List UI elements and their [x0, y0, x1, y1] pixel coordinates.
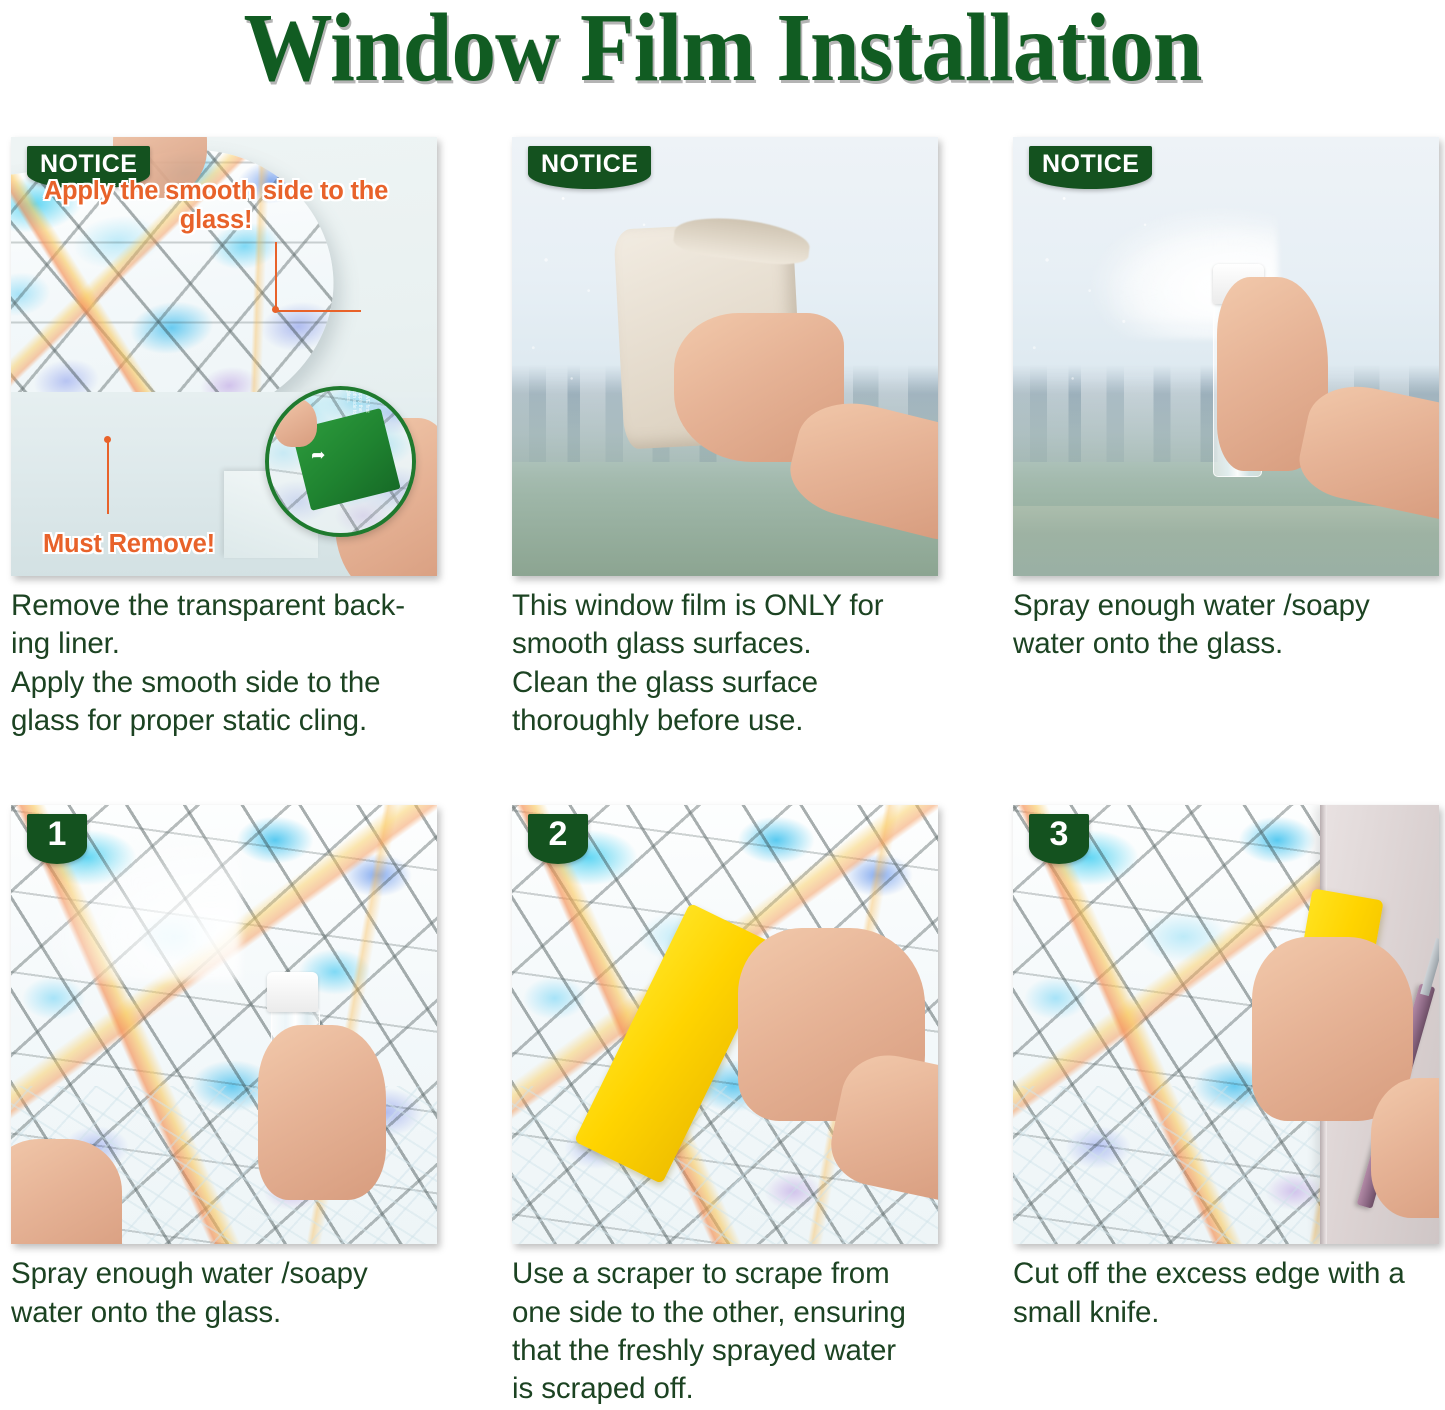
- magnifier-inset: ➦ Please REMOVE first and apply the smoo…: [265, 386, 416, 537]
- row-notices: ➦ Please REMOVE first and apply the smoo…: [0, 137, 1445, 740]
- spray-nozzle: [267, 972, 318, 1012]
- caption-step-1: Spray enough water /soapy water onto the…: [11, 1255, 437, 1332]
- badge-step-2: 2: [528, 814, 588, 864]
- badge-notice: NOTICE: [528, 146, 651, 189]
- row-steps: 1 Spray enough water /soapy water onto t…: [0, 805, 1445, 1408]
- callout-apply-smooth-side: Apply the smooth side to the glass!: [11, 177, 421, 235]
- badge-step-3: 3: [1029, 814, 1089, 864]
- panel-spray-water: NOTICE Spray enough water /soapy water o…: [1013, 137, 1439, 740]
- callout-leader-elbow: [275, 242, 361, 312]
- callout-leader-vertical: [107, 440, 109, 514]
- panel-clean-glass: NOTICE This window film is ONLY for smoo…: [512, 137, 938, 740]
- page-title: Window Film Installation: [58, 0, 1387, 103]
- pull-tab-text: Please REMOVE first and apply the smooth…: [345, 386, 376, 417]
- panel-step-2: 2 Use a scraper to scrape from one side …: [512, 805, 938, 1408]
- photo-step-3: 3: [1013, 805, 1439, 1244]
- callout-anchor-dot-apply: [272, 306, 279, 313]
- photo-backing-liner: ➦ Please REMOVE first and apply the smoo…: [11, 137, 437, 576]
- badge-notice: NOTICE: [1029, 146, 1152, 189]
- photo-clean-glass: NOTICE: [512, 137, 938, 576]
- callout-must-remove: Must Remove!: [43, 530, 215, 559]
- panel-backing-liner: ➦ Please REMOVE first and apply the smoo…: [11, 137, 437, 740]
- hand-holding-bottle: [258, 1025, 386, 1201]
- photo-spray-water: NOTICE: [1013, 137, 1439, 576]
- magnifier-fingertip: [274, 398, 317, 447]
- hand-holding-knife: [1371, 1078, 1439, 1218]
- photo-step-1: 1: [11, 805, 437, 1244]
- caption-backing-liner: Remove the transparent back- ing liner. …: [11, 587, 437, 740]
- second-hand: [11, 1139, 122, 1244]
- panel-step-3: 3 Cut off the excess edge with a small k…: [1013, 805, 1439, 1408]
- badge-step-1: 1: [27, 814, 87, 864]
- caption-clean-glass: This window film is ONLY for smooth glas…: [512, 587, 938, 740]
- panel-step-1: 1 Spray enough water /soapy water onto t…: [11, 805, 437, 1408]
- photo-step-2: 2: [512, 805, 938, 1244]
- caption-step-3: Cut off the excess edge with a small kni…: [1013, 1255, 1439, 1332]
- instruction-grid: ➦ Please REMOVE first and apply the smoo…: [0, 137, 1445, 1409]
- callout-anchor-dot-remove: [104, 436, 111, 443]
- caption-step-2: Use a scraper to scrape from one side to…: [512, 1255, 938, 1408]
- caption-spray-water: Spray enough water /soapy water onto the…: [1013, 587, 1439, 664]
- pull-arrow-icon: ➦: [311, 446, 325, 463]
